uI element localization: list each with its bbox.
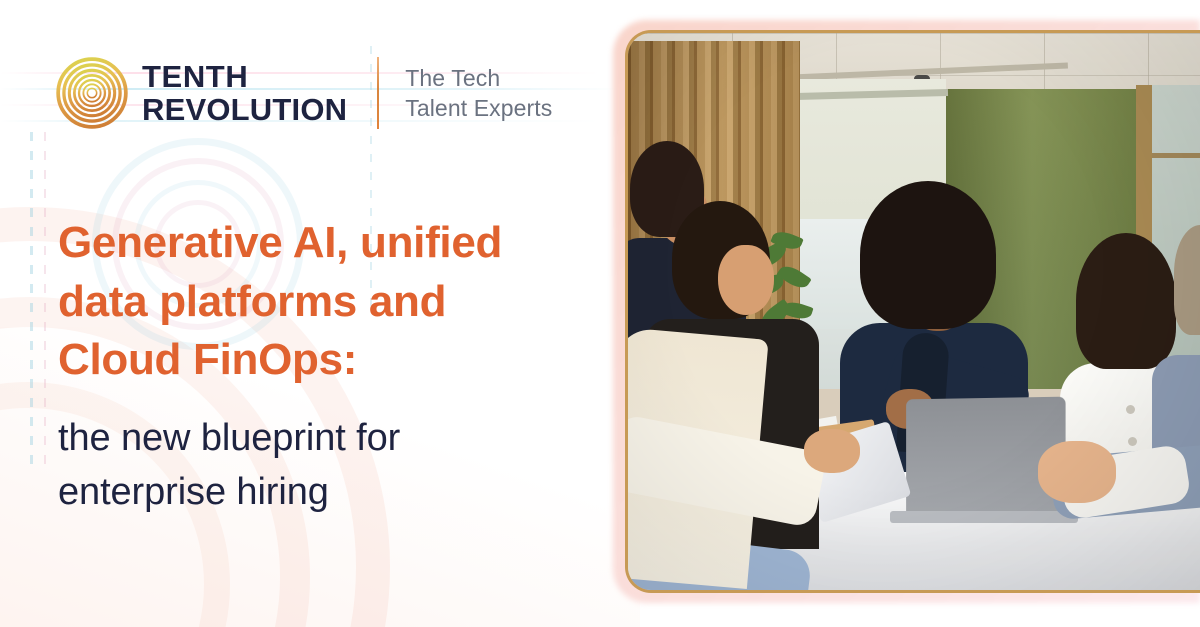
wordmark-line-1: TENTH (142, 60, 347, 93)
headline-line-2: data platforms and (58, 273, 618, 332)
decorative-dashed-line-2 (44, 132, 46, 472)
headline-line-1: Generative AI, unified (58, 214, 618, 273)
page-title: Generative AI, unified data platforms an… (58, 214, 618, 390)
headline-line-3: Cloud FinOps: (58, 331, 618, 390)
concentric-rings-logo-icon (56, 57, 128, 129)
wordmark-line-2: REVOLUTION (142, 93, 347, 126)
decorative-dashed-line-1 (30, 132, 33, 472)
tagline-line-2: Talent Experts (405, 93, 552, 123)
marketing-banner: TENTH REVOLUTION The Tech Talent Experts… (0, 0, 1200, 627)
hero-photo (625, 30, 1200, 593)
hero-photo-scene (628, 33, 1200, 590)
page-subtitle: the new blueprint for enterprise hiring (58, 412, 618, 520)
brand-wordmark: TENTH REVOLUTION (142, 60, 347, 126)
brand-logo-block[interactable]: TENTH REVOLUTION The Tech Talent Experts (56, 50, 552, 136)
subheadline-line-2: enterprise hiring (58, 466, 618, 520)
photo-vignette (628, 33, 1200, 590)
logo-divider (377, 57, 379, 129)
brand-tagline: The Tech Talent Experts (405, 63, 552, 124)
tagline-line-1: The Tech (405, 63, 552, 93)
subheadline-line-1: the new blueprint for (58, 412, 618, 466)
